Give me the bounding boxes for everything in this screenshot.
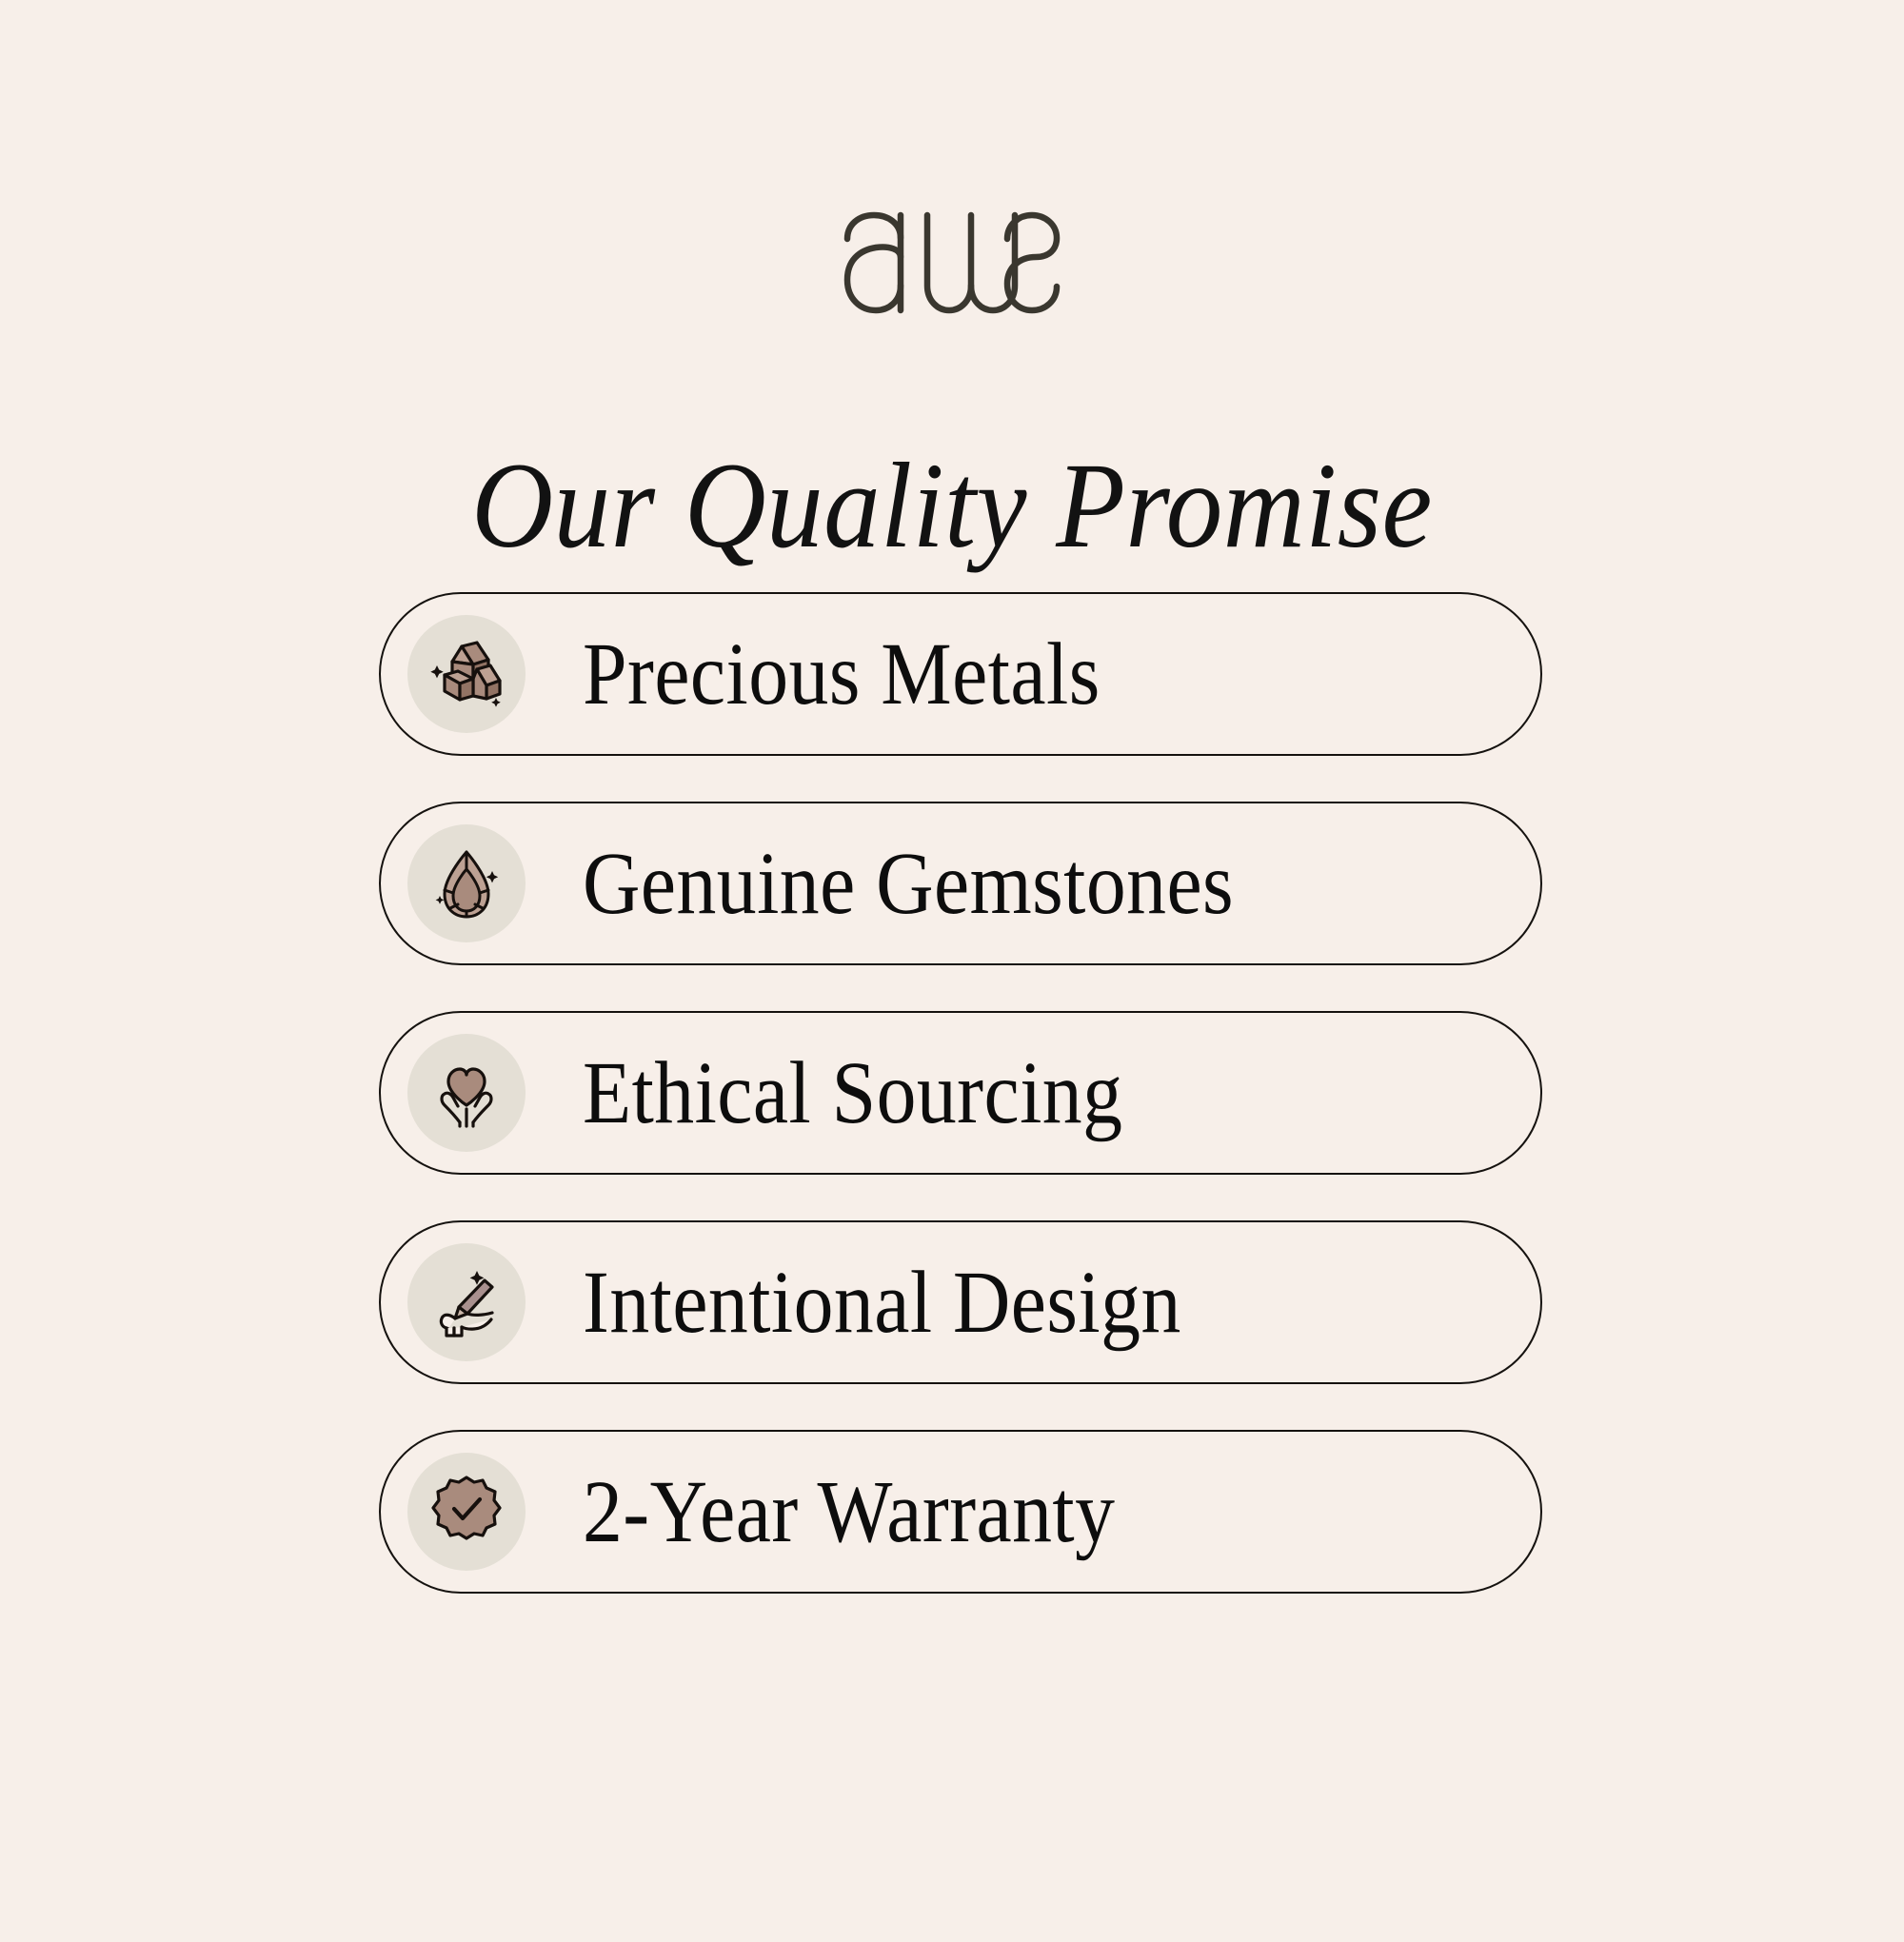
awe-wordmark-icon xyxy=(842,211,1062,228)
hands-holding-heart-icon xyxy=(407,1034,526,1152)
promise-row-genuine-gemstones[interactable]: Genuine Gemstones xyxy=(379,802,1542,965)
promise-label: 2-Year Warranty xyxy=(583,1468,1115,1556)
promise-row-ethical-sourcing[interactable]: Ethical Sourcing xyxy=(379,1011,1542,1175)
promise-label: Intentional Design xyxy=(583,1258,1181,1347)
hand-drawing-pen-icon xyxy=(407,1243,526,1361)
page-title: Our Quality Promise xyxy=(67,444,1837,568)
promise-label: Precious Metals xyxy=(583,630,1101,719)
promise-label: Genuine Gemstones xyxy=(583,840,1234,928)
brand-logo xyxy=(0,211,1904,316)
badge-check-icon xyxy=(407,1453,526,1571)
promise-row-2-year-warranty[interactable]: 2-Year Warranty xyxy=(379,1430,1542,1594)
pear-gemstone-icon xyxy=(407,824,526,942)
promise-row-intentional-design[interactable]: Intentional Design xyxy=(379,1220,1542,1384)
quality-promise-page: Our Quality Promise xyxy=(0,0,1904,1942)
gold-bars-icon xyxy=(407,615,526,733)
promise-list: Precious Metals xyxy=(379,592,1542,1594)
promise-label: Ethical Sourcing xyxy=(583,1049,1122,1138)
promise-row-precious-metals[interactable]: Precious Metals xyxy=(379,592,1542,756)
